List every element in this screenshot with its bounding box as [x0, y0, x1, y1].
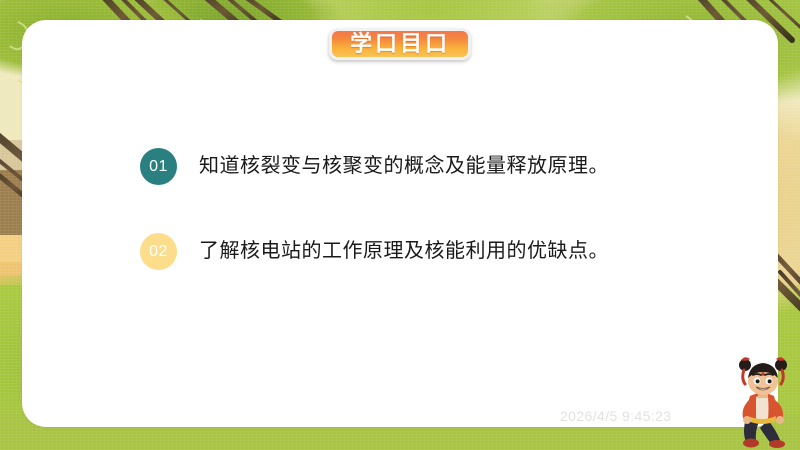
objective-text: 了解核电站的工作原理及核能利用的优缺点。: [199, 238, 609, 265]
objective-number-label: 02: [149, 243, 168, 261]
objective-number-badge: 01: [140, 148, 177, 185]
objective-number-label: 01: [149, 158, 168, 176]
presentation-slide: 学口目口 01 知道核裂变与核聚变的概念及能量释放原理。 02 了解核电站的工作…: [0, 0, 800, 450]
page-title: 学口目口: [350, 33, 450, 55]
objective-text: 知道核裂变与核聚变的概念及能量释放原理。: [199, 153, 609, 180]
nezha-mascot-icon: [734, 356, 792, 448]
objective-number-badge: 02: [140, 233, 177, 270]
list-item: 01 知道核裂变与核聚变的概念及能量释放原理。: [140, 148, 700, 185]
timestamp-watermark: 2026/4/5 9:45:23: [560, 408, 672, 424]
title-badge-pill: 学口目口: [329, 28, 471, 60]
slide-title-badge: 学口目口: [329, 28, 471, 60]
objectives-list: 01 知道核裂变与核聚变的概念及能量释放原理。 02 了解核电站的工作原理及核能…: [140, 148, 700, 270]
list-item: 02 了解核电站的工作原理及核能利用的优缺点。: [140, 233, 700, 270]
